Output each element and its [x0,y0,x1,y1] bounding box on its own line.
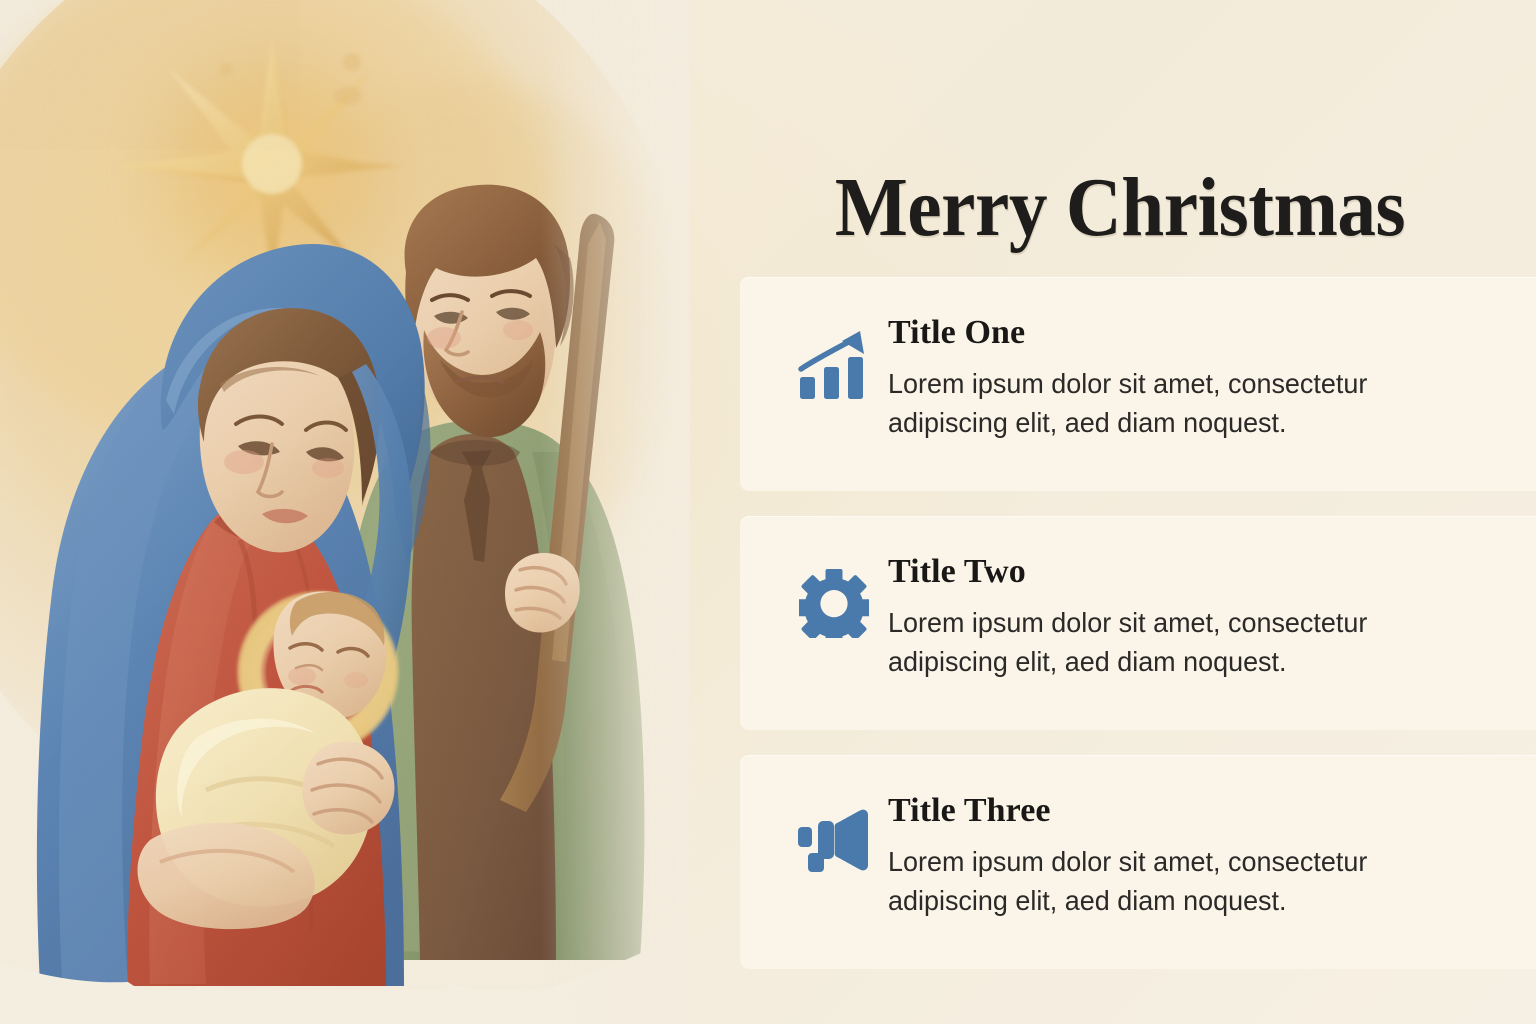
feature-card-text: Lorem ipsum dolor sit amet, consectetur … [888,364,1486,442]
nativity-illustration [0,0,690,1024]
feature-card-title: Title Three [888,791,1536,830]
feature-card-body: Title Two Lorem ipsum dolor sit amet, co… [888,546,1536,681]
feature-card-body: Title Three Lorem ipsum dolor sit amet, … [888,785,1536,920]
feature-card-list: Title One Lorem ipsum dolor sit amet, co… [740,277,1536,969]
page-title: Merry Christmas [770,166,1469,250]
gear-icon [780,546,888,638]
feature-card[interactable]: Title One Lorem ipsum dolor sit amet, co… [740,277,1536,491]
feature-card-body: Title One Lorem ipsum dolor sit amet, co… [888,307,1536,442]
growth-chart-icon [780,307,888,401]
feature-card-text: Lorem ipsum dolor sit amet, consectetur … [888,603,1486,681]
feature-card-title: Title Two [888,552,1536,591]
feature-card[interactable]: Title Two Lorem ipsum dolor sit amet, co… [740,516,1536,730]
feature-card-title: Title One [888,313,1536,352]
megaphone-icon [780,785,888,873]
feature-card-text: Lorem ipsum dolor sit amet, consectetur … [888,842,1486,920]
feature-card[interactable]: Title Three Lorem ipsum dolor sit amet, … [740,755,1536,969]
content-column: Merry Christmas Tit [690,0,1536,1024]
christmas-slide: Merry Christmas Tit [0,0,1536,1024]
